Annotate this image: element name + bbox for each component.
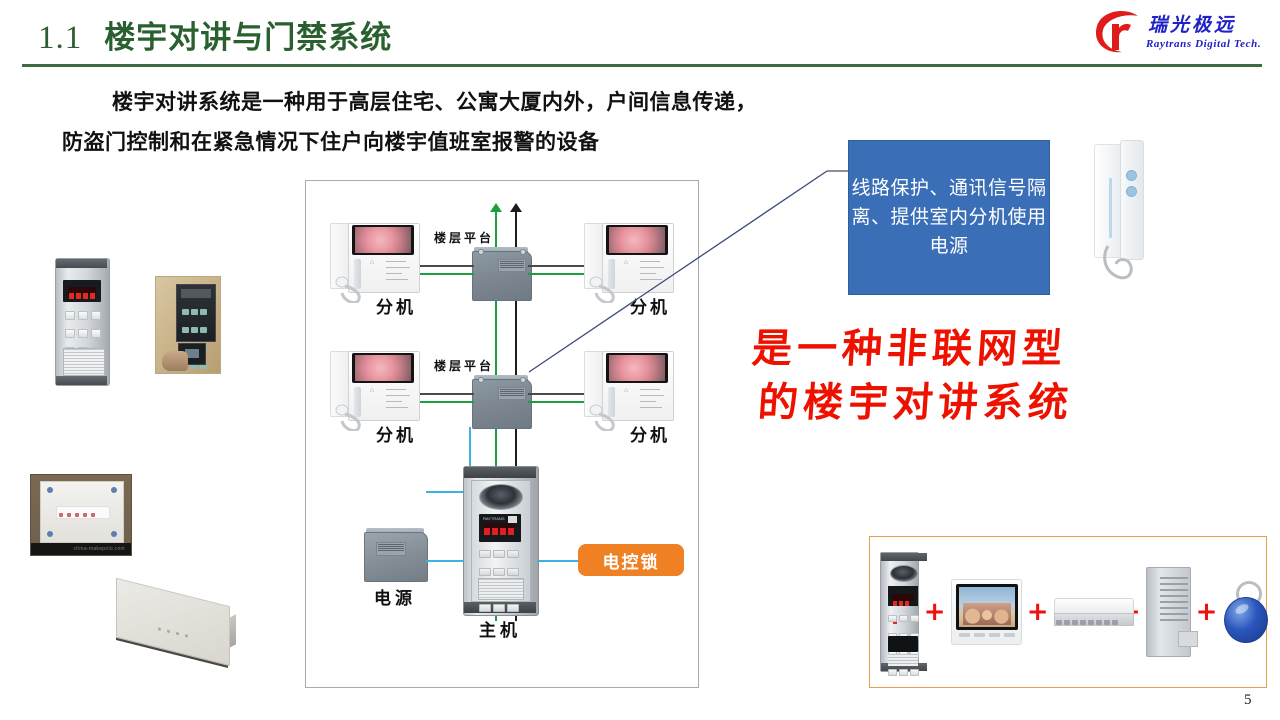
body-paragraph: 楼宇对讲系统是一种用于高层住宅、公寓大厦内外，户间信息传递， 防盗门控制和在紧急…	[90, 82, 870, 162]
indoor-monitor-4: ⌂ 分机	[584, 351, 672, 425]
product-speaker	[888, 654, 918, 666]
monitor-handset-icon	[588, 275, 622, 303]
main-unit-label: 主机	[463, 616, 537, 641]
handset-cord-icon	[1100, 244, 1138, 282]
product-power-cabinet	[1146, 567, 1191, 657]
photo-screw-tr	[111, 487, 117, 493]
monitor-screen	[609, 227, 665, 253]
product-indoor-monitor	[951, 579, 1022, 645]
photo-screw-br	[111, 531, 117, 537]
photo-screw-tl	[47, 487, 53, 493]
monitor-brand-mark: ⌂	[624, 259, 628, 266]
monitor-button-lines	[640, 389, 666, 415]
handset-button-1	[1126, 170, 1137, 181]
power-label: 电源	[356, 584, 434, 609]
psu-to-door-wire	[426, 560, 464, 562]
plus-sign-1: +	[924, 597, 946, 627]
monitor-button-lines	[386, 389, 412, 415]
psu-terminal	[376, 542, 406, 556]
door-logo-mark	[508, 516, 517, 523]
platform-terminal	[498, 387, 526, 400]
red-annotation: 是一种非联网型 的楼宇对讲系统	[752, 322, 1152, 430]
r-circle-icon	[1092, 10, 1144, 56]
callout-box: 线路保护、通讯信号隔离、提供室内分机使用电源	[848, 140, 1050, 295]
monitor-button-lines	[640, 261, 666, 287]
branch-wire-gray-r2r	[528, 393, 584, 395]
product-row: + + + +	[880, 545, 1258, 679]
branch-wire-gray-r1l	[420, 265, 474, 267]
electric-lock-badge: 电控锁	[578, 544, 684, 576]
platform-screw-left	[478, 377, 484, 383]
extension-label-4: 分机	[630, 421, 670, 446]
monitor-screen	[609, 355, 665, 381]
photo-hand	[162, 351, 188, 371]
door-cap-top	[464, 467, 536, 478]
red-annotation-line-1: 是一种非联网型	[750, 322, 1154, 376]
audio-handset-photo	[1094, 140, 1146, 282]
logo-chinese-name: 瑞光极远	[1148, 10, 1236, 37]
platform-screw-right	[520, 249, 526, 255]
product-cap-top	[881, 553, 927, 561]
slide: 1.1 楼宇对讲与门禁系统 瑞光极远 Raytrans Digital Tech…	[0, 0, 1280, 720]
product-monitor-buttons	[957, 624, 1017, 642]
card-reader-hand-photo	[155, 276, 221, 374]
platform-terminal	[498, 259, 526, 272]
branch-wire-gray-r2l	[420, 393, 474, 395]
page-number: 5	[1244, 692, 1252, 709]
photo-keypad-panel	[176, 284, 216, 342]
product-monitor-screen	[959, 587, 1015, 627]
product-card-reader-icon	[888, 636, 918, 652]
photo-screw-bl	[47, 531, 53, 537]
cabinet-label-plate	[1178, 631, 1198, 647]
plus-sign-4: +	[1196, 597, 1218, 627]
product-door-station	[880, 552, 919, 672]
product-rfid-fob	[1222, 581, 1258, 643]
handset-back-body	[1120, 140, 1144, 260]
photo-panel-box	[40, 481, 124, 543]
indoor-monitor-3: ⌂ 分机	[330, 351, 418, 425]
platform-screw-left	[478, 249, 484, 255]
branch-wire-green-r1r	[528, 273, 584, 275]
indoor-monitor-2: ⌂ 分机	[584, 223, 672, 297]
photo-cap-top	[56, 259, 107, 268]
control-panel-photo: china-makepolo.com	[30, 474, 132, 556]
door-display-panel: RAYTRANS	[479, 514, 521, 542]
indoor-monitor-1: ⌂ 分机	[330, 223, 418, 297]
cabinet-vent	[1160, 577, 1188, 623]
red-annotation-line-2: 的楼宇对讲系统	[756, 376, 1154, 430]
screen-family-photo	[963, 603, 1011, 625]
product-display	[888, 586, 918, 606]
audio-riser-arrow	[510, 203, 522, 212]
monitor-screen	[355, 355, 411, 381]
platform-label-1: 楼层平台	[434, 229, 494, 246]
page-title: 1.1 楼宇对讲与门禁系统	[38, 12, 392, 57]
door-brand-mark: RAYTRANS	[483, 516, 504, 521]
fob-body	[1224, 597, 1268, 643]
switch-ports	[1054, 613, 1134, 626]
monitor-brand-mark: ⌂	[624, 387, 628, 394]
door-station-unit: RAYTRANS 主机	[463, 466, 537, 614]
monitor-handset-icon	[334, 275, 368, 303]
monitor-handset-icon	[334, 403, 368, 431]
title-text: 楼宇对讲与门禁系统	[104, 12, 392, 57]
power-supply-unit: 电源	[364, 528, 426, 580]
monitor-brand-mark: ⌂	[370, 387, 374, 394]
floor-platform-1	[472, 247, 530, 299]
photo-speaker	[63, 348, 105, 376]
paragraph-line-2: 防盗门控制和在紧急情况下住户向楼宇值班室报警的设备	[62, 122, 870, 162]
platform-label-2: 楼层平台	[434, 357, 494, 374]
outdoor-door-station-photo	[55, 258, 110, 386]
branch-wire-gray-r1r	[528, 265, 584, 267]
title-number: 1.1	[38, 20, 82, 57]
product-composition-box: + + + +	[869, 536, 1267, 688]
photo-led-strip	[56, 506, 110, 519]
floor-platform-2	[472, 375, 530, 427]
platform-screw-right	[520, 377, 526, 383]
extension-label-3: 分机	[376, 421, 416, 446]
logo-english-name: Raytrans Digital Tech.	[1146, 38, 1261, 50]
camera-icon	[479, 484, 523, 510]
video-riser-arrow	[490, 203, 502, 212]
photo-watermark-bar: china-makepolo.com	[31, 543, 131, 555]
branch-wire-green-r2l	[420, 401, 474, 403]
plus-sign-2: +	[1027, 597, 1049, 627]
paragraph-line-1: 楼宇对讲系统是一种用于高层住宅、公寓大厦内外，户间信息传递，	[90, 82, 870, 122]
product-network-switch	[1054, 598, 1114, 626]
branch-wire-green-r1l	[420, 273, 474, 275]
extension-label-1: 分机	[376, 293, 416, 318]
title-divider	[22, 64, 1262, 67]
monitor-handset-icon	[588, 403, 622, 431]
company-logo: 瑞光极远 Raytrans Digital Tech.	[1090, 8, 1270, 60]
metal-enclosure-photo	[100, 590, 236, 674]
handset-light-strip	[1109, 178, 1112, 238]
monitor-button-lines	[386, 261, 412, 287]
handset-button-2	[1126, 186, 1137, 197]
monitor-screen	[355, 227, 411, 253]
photo-screen	[181, 289, 211, 298]
door-to-lock-wire	[537, 560, 579, 562]
branch-wire-green-r2r	[528, 401, 584, 403]
fob-highlight	[1234, 602, 1250, 616]
psu-body	[364, 532, 428, 582]
monitor-brand-mark: ⌂	[370, 259, 374, 266]
door-led-display	[483, 523, 515, 532]
extension-label-2: 分机	[630, 293, 670, 318]
electric-lock-label: 电控锁	[603, 548, 660, 573]
door-speaker-grille	[478, 578, 524, 600]
photo-display	[63, 280, 101, 302]
callout-text: 线路保护、通讯信号隔离、提供室内分机使用电源	[849, 174, 1049, 261]
product-camera-icon	[890, 565, 918, 582]
